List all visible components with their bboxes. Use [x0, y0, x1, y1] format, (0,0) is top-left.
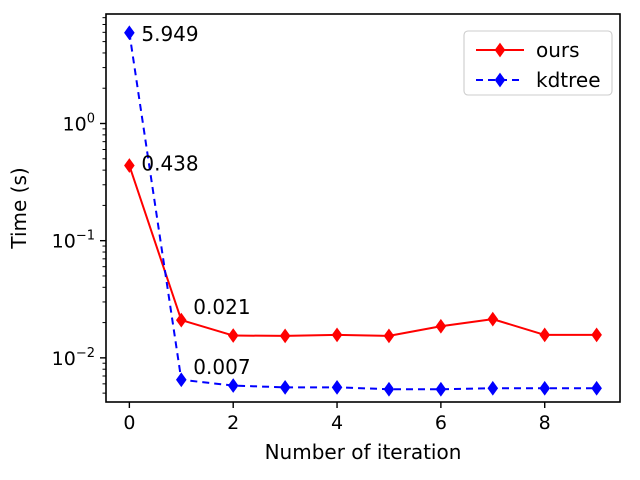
x-tick-label-8: 8	[539, 412, 551, 434]
marker-ours-4	[332, 328, 341, 341]
marker-ours-0	[125, 159, 134, 172]
x-axis-label: Number of iteration	[265, 440, 462, 464]
marker-kdtree-2	[229, 379, 238, 392]
annotation-5.949: 5.949	[141, 22, 198, 46]
annotation-0.021: 0.021	[193, 295, 250, 319]
marker-ours-3	[280, 329, 289, 342]
x-tick-label-2: 2	[227, 412, 239, 434]
x-tick-label-4: 4	[331, 412, 343, 434]
annotation-0.007: 0.007	[193, 355, 250, 379]
marker-ours-5	[384, 329, 393, 342]
marker-ours-1	[177, 314, 186, 327]
marker-kdtree-8	[540, 382, 549, 395]
y-tick-label-0: 100	[63, 112, 95, 136]
marker-ours-2	[229, 329, 238, 342]
legend: ourskdtree	[464, 31, 612, 95]
figure-canvas: 0246810010−110−2Number of iterationTime …	[0, 0, 640, 480]
x-tick-label-6: 6	[435, 412, 447, 434]
marker-ours-7	[488, 313, 497, 326]
legend-label-kdtree: kdtree	[536, 68, 601, 92]
marker-kdtree-9	[592, 382, 601, 395]
y-tick-label-−1: 10−1	[52, 229, 95, 253]
marker-kdtree-6	[436, 383, 445, 396]
marker-ours-8	[540, 328, 549, 341]
marker-kdtree-3	[280, 381, 289, 394]
marker-ours-9	[592, 328, 601, 341]
annotation-0.438: 0.438	[141, 152, 198, 176]
chart-plot: 0246810010−110−2Number of iterationTime …	[0, 0, 640, 480]
marker-kdtree-7	[488, 382, 497, 395]
marker-kdtree-5	[384, 383, 393, 396]
marker-ours-6	[436, 320, 445, 333]
y-tick-label-−2: 10−2	[52, 346, 95, 370]
legend-label-ours: ours	[536, 38, 580, 62]
x-tick-label-0: 0	[123, 412, 135, 434]
marker-kdtree-1	[177, 373, 186, 386]
marker-kdtree-0	[125, 26, 134, 39]
marker-kdtree-4	[332, 381, 341, 394]
y-axis-label: Time (s)	[7, 167, 31, 249]
